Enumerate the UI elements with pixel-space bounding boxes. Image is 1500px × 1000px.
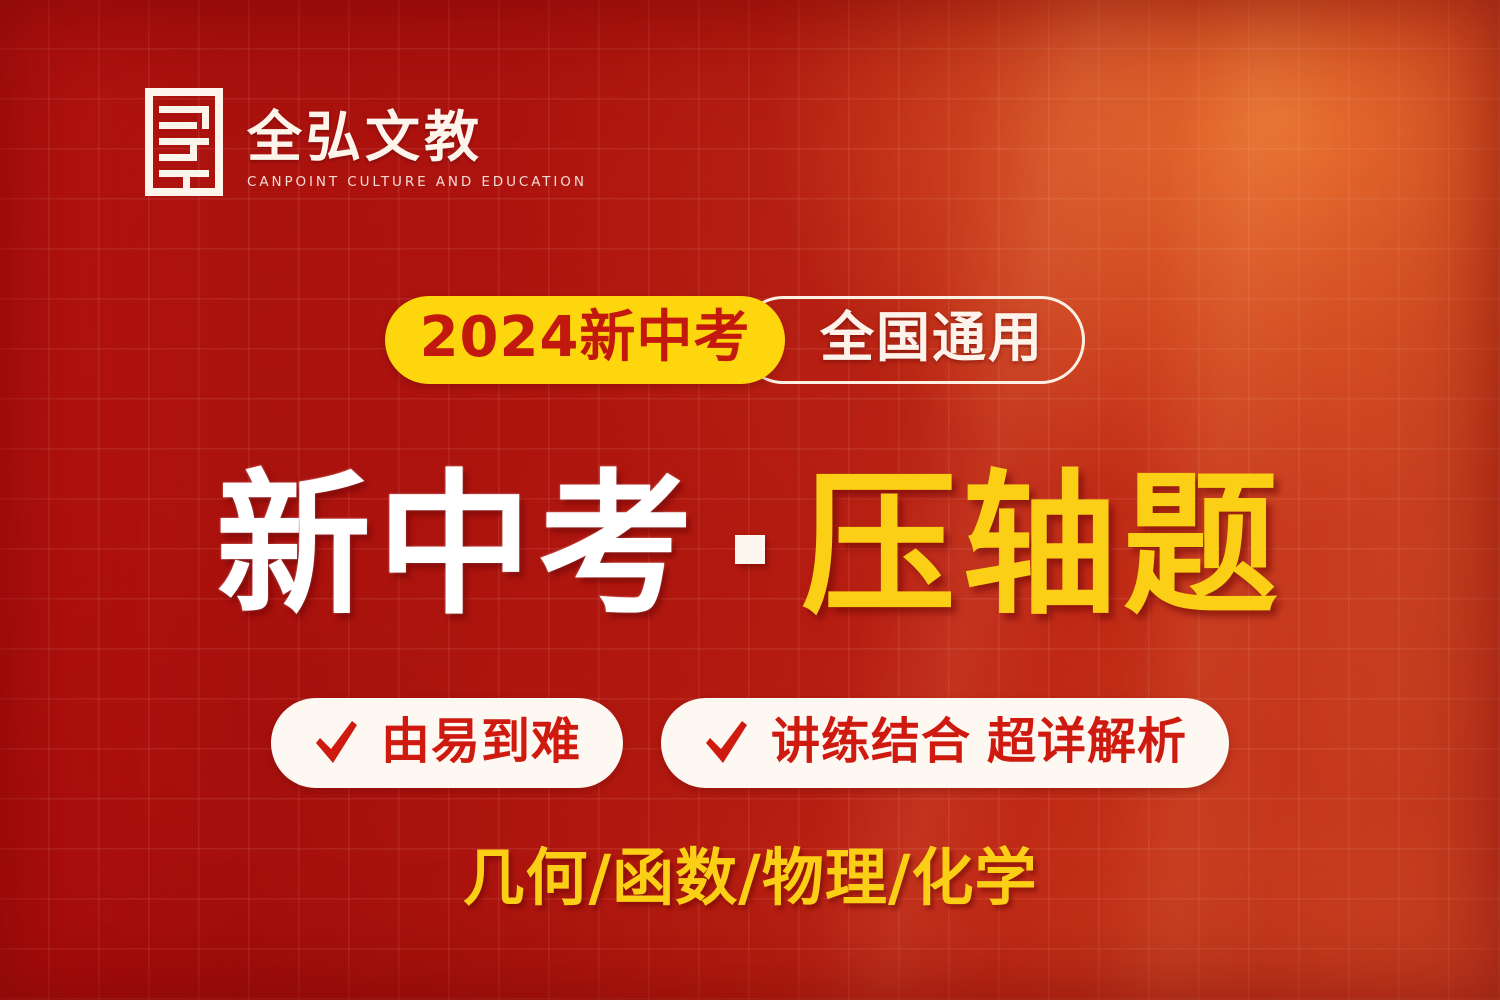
canpoint-seal-mark-icon xyxy=(143,86,225,198)
feature-pill-row: 由易到难 讲练结合超详解析 xyxy=(0,698,1500,788)
badge-nationwide-label: 全国通用 xyxy=(820,311,1044,365)
feature-label-method-a: 讲练结合 xyxy=(771,713,971,770)
check-icon xyxy=(313,719,359,767)
badge-nationwide: 全国通用 xyxy=(739,296,1085,384)
headline-yellow-text: 压轴题 xyxy=(801,468,1284,623)
subject-list: 几何/函数/物理/化学 xyxy=(0,838,1500,918)
subject-list-label: 几何/函数/物理/化学 xyxy=(463,847,1038,909)
logo-wordmark: 全弘文教 CANPOINT CULTURE AND EDUCATION xyxy=(247,94,587,190)
feature-label-difficulty: 由易到难 xyxy=(381,717,581,766)
headline-separator-square xyxy=(735,535,765,564)
check-icon xyxy=(703,719,749,767)
feature-label-method-b: 超详解析 xyxy=(987,713,1187,770)
feature-pill-difficulty: 由易到难 xyxy=(271,698,623,788)
feature-label-method: 讲练结合超详解析 xyxy=(771,717,1187,766)
badge-year: 2024新中考 xyxy=(385,296,785,384)
headline: 新中考 压轴题 xyxy=(0,455,1500,635)
brand-logo: 全弘文教 CANPOINT CULTURE AND EDUCATION xyxy=(143,86,587,198)
headline-white-text: 新中考 xyxy=(216,468,699,623)
logo-english-name: CANPOINT CULTURE AND EDUCATION xyxy=(247,174,587,190)
badge-year-label: 2024新中考 xyxy=(420,310,751,366)
feature-pill-method: 讲练结合超详解析 xyxy=(661,698,1229,788)
logo-chinese-name: 全弘文教 xyxy=(247,110,587,165)
badge-row: 2024新中考 全国通用 xyxy=(385,296,1085,384)
poster-canvas: 全弘文教 CANPOINT CULTURE AND EDUCATION 2024… xyxy=(0,0,1500,1000)
